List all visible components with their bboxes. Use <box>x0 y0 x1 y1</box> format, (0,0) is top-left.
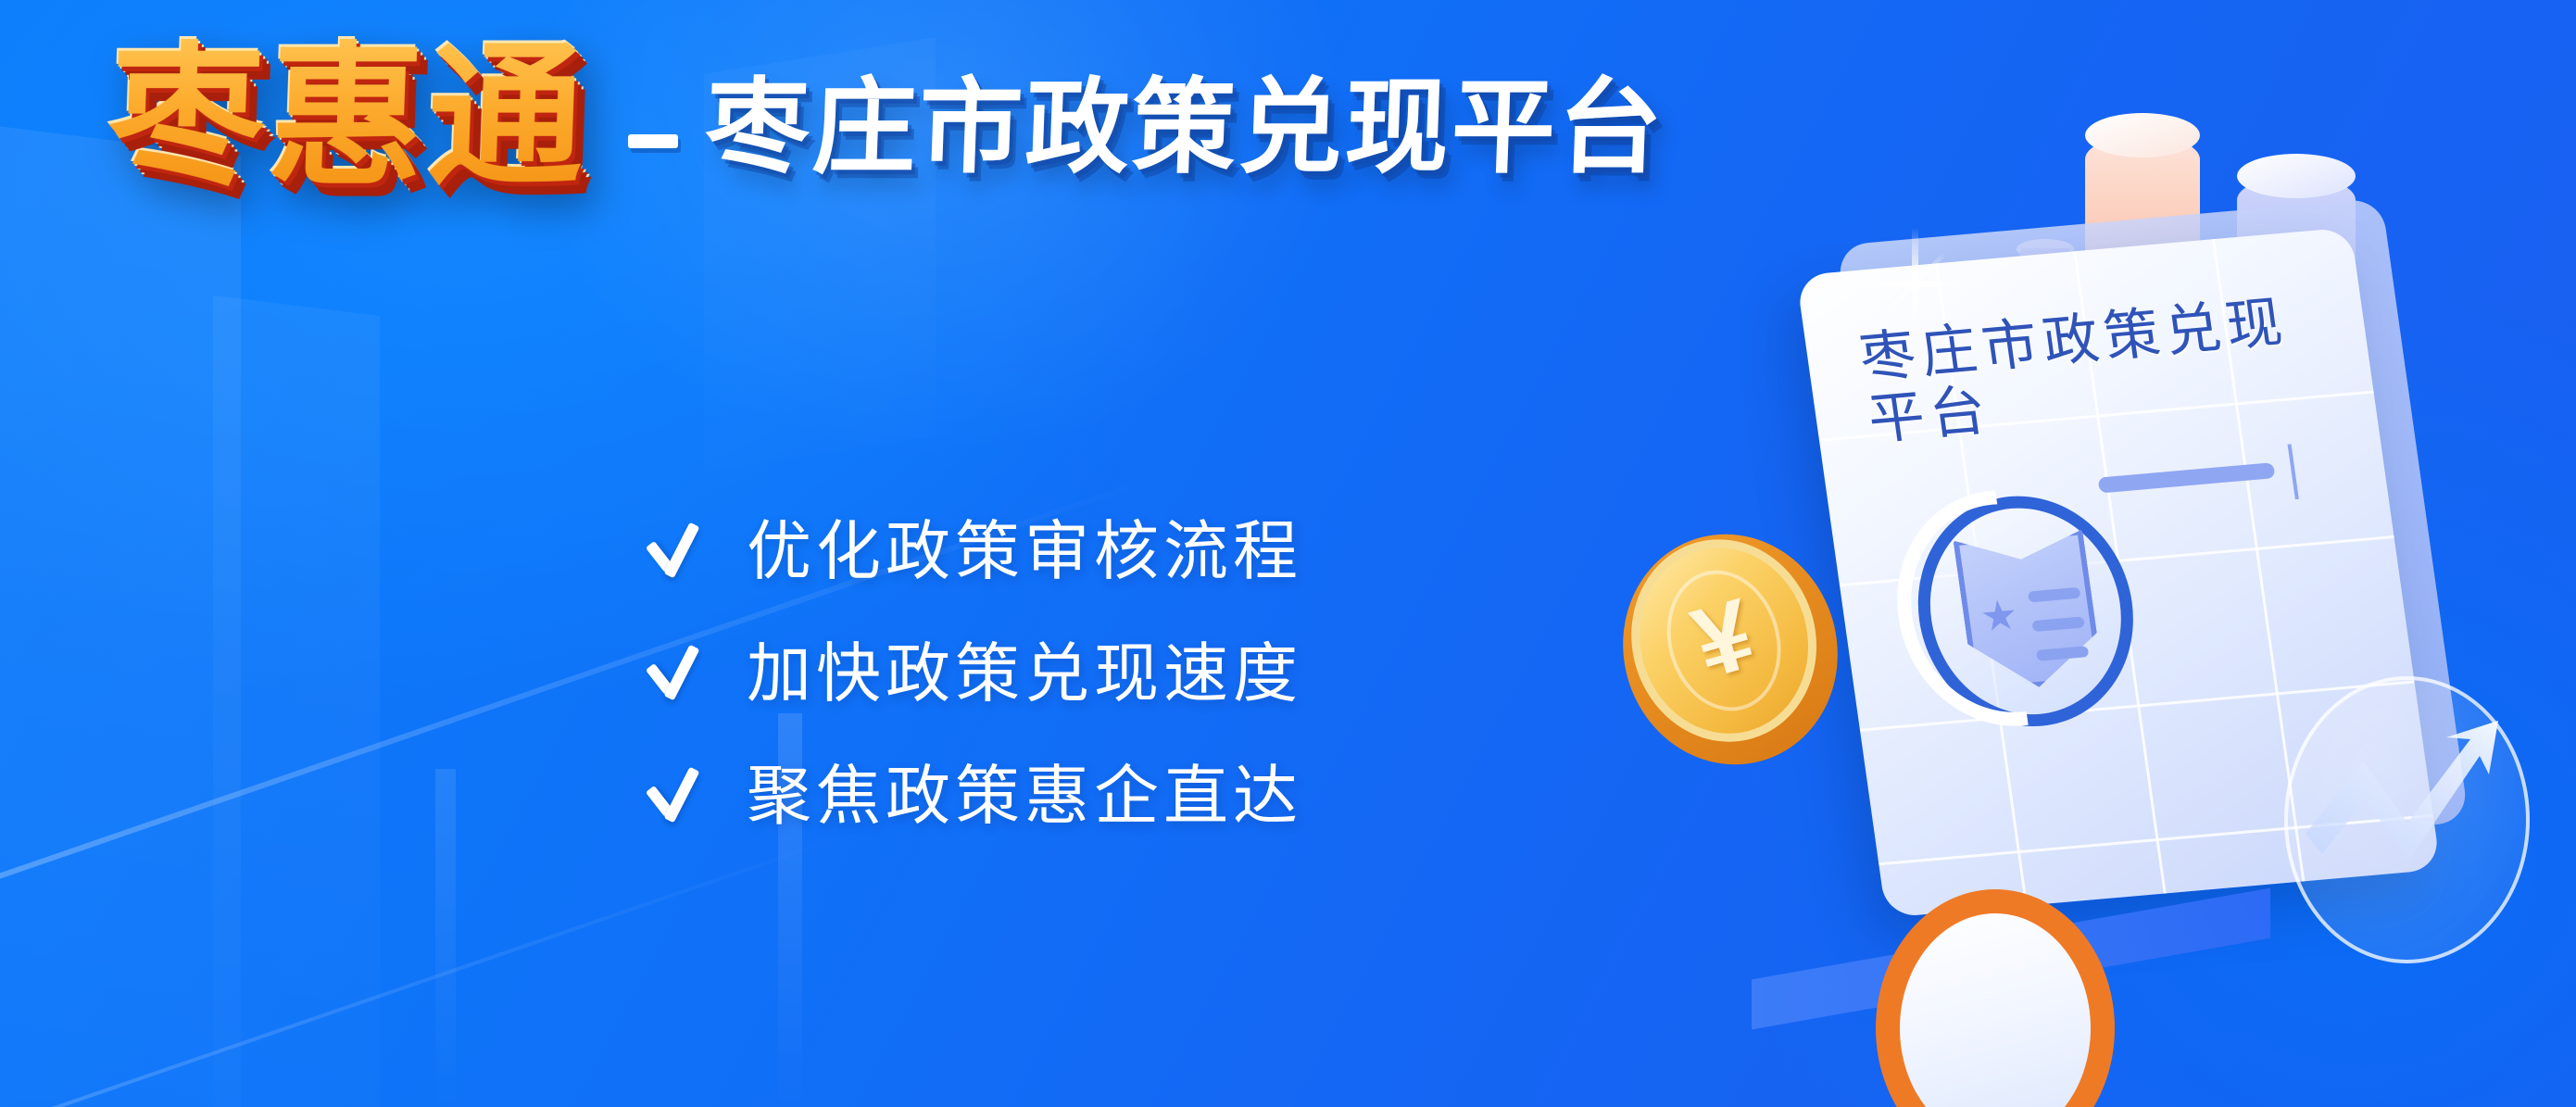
sparkle-icon <box>1859 228 1970 339</box>
feature-list: 优化政策审核流程 加快政策兑现速度 聚焦政策惠企直达 <box>639 519 1302 828</box>
policy-platform-banner: 枣惠通 枣庄市政策兑现平台 优化政策审核流程 加快政策兑现速度 聚焦政策惠企直达 <box>0 0 2576 1107</box>
feature-label: 优化政策审核流程 <box>747 519 1302 584</box>
background-diagonal-2 <box>0 835 844 1107</box>
check-icon <box>639 643 700 704</box>
feature-item-3: 聚焦政策惠企直达 <box>639 763 1302 828</box>
dash-separator-icon <box>628 134 678 148</box>
background-building-1 <box>0 122 241 1107</box>
brand-title: 枣惠通 <box>107 39 590 195</box>
yen-symbol: ¥ <box>1629 568 1817 710</box>
background-pillar-1 <box>435 769 456 1107</box>
feature-label: 加快政策兑现速度 <box>747 641 1302 706</box>
platform-subtitle: 枣庄市政策兑现平台 <box>704 76 1666 180</box>
check-icon <box>639 765 700 826</box>
feature-item-1: 优化政策审核流程 <box>639 519 1302 584</box>
trend-up-arrow-icon <box>2298 704 2530 917</box>
feature-item-2: 加快政策兑现速度 <box>639 641 1302 706</box>
hero-illustration: 枣庄市政策兑现平台 ¥ <box>1779 0 2576 1107</box>
check-icon <box>639 521 700 582</box>
headline-subtitle-group: 枣庄市政策兑现平台 <box>628 76 1665 195</box>
background-building-2 <box>213 296 380 1107</box>
gold-coin-icon: ¥ <box>1596 509 1865 790</box>
banner-headline: 枣惠通 枣庄市政策兑现平台 <box>109 39 1665 195</box>
feature-label: 聚焦政策惠企直达 <box>747 763 1302 828</box>
